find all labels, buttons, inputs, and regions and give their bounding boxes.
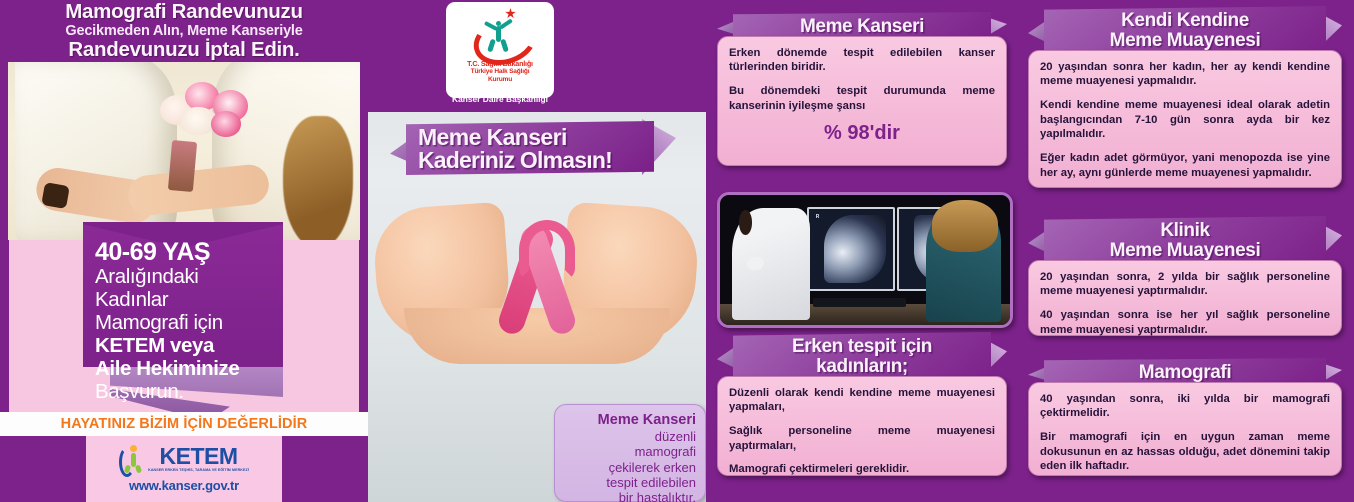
ministry-name-line2: Türkiye Halk Sağlığı	[471, 68, 530, 76]
middle-note-box: Meme Kanseri düzenli mamografi çekilerek…	[554, 404, 706, 502]
card-mamografi: Mamografi 40 yaşından sonra, iki yılda b…	[1028, 358, 1342, 476]
callout-line1: 40-69 YAŞ	[95, 238, 277, 266]
note-line4: tespit edilebilen	[564, 475, 696, 490]
card-2-paragraph-1: 20 yaşından sonra her kadın, her ay kend…	[1040, 60, 1330, 89]
left-headline-block: Mamografi Randevunuzu Gecikmeden Alın, M…	[0, 2, 368, 61]
mammogram-consultation-photo: R L	[717, 192, 1013, 328]
card-2-title-line1: Kendi Kendine	[1054, 11, 1316, 31]
card-2-content: 20 yaşından sonra her kadın, her ay kend…	[1028, 50, 1342, 188]
card-5-content: 40 yaşından sonra, iki yılda bir mamogra…	[1028, 382, 1342, 476]
photo-woman-hair	[283, 116, 353, 242]
left-pink-band-edge-left	[0, 240, 9, 418]
middle-cover-panel: T.C. Sağlık Bakanlığı Türkiye Halk Sağlı…	[368, 0, 706, 502]
card-2-paragraph-3: Eğer kadın adet görmüyor, yani menopozda…	[1040, 151, 1330, 180]
photo-flower-bouquet	[156, 76, 255, 152]
card-1-paragraph-2: Bu dönemdeki tespit durumunda meme kanse…	[729, 84, 995, 113]
card-2-title-line2: Meme Muayenesi	[1054, 31, 1316, 51]
card-2-paragraph-2: Kendi kendine meme muayenesi ideal olara…	[1040, 98, 1330, 142]
mammogram-label-right: R	[816, 214, 820, 220]
ketem-website-url[interactable]: www.kanser.gov.tr	[129, 478, 239, 493]
left-brochure-panel: Mamografi Randevunuzu Gecikmeden Alın, M…	[0, 0, 368, 502]
callout-line3: Kadınlar	[95, 289, 277, 312]
card-5-title-line1: Mamografi	[1054, 363, 1316, 383]
left-pink-band-edge-right	[359, 240, 368, 418]
callout-line5: KETEM veya	[95, 335, 277, 358]
age-range-callout-text: 40-69 YAŞ Aralığındaki Kadınlar Mamograf…	[95, 238, 277, 404]
ministry-of-health-logo-card: T.C. Sağlık Bakanlığı Türkiye Halk Sağlı…	[446, 2, 554, 98]
left-headline-line2: Gecikmeden Alın, Meme Kanseriyle	[0, 23, 368, 40]
photo-doctor-head	[739, 210, 752, 235]
banner-title-line1: Meme Kanseri	[418, 126, 650, 149]
photo-keyboard	[813, 298, 906, 307]
ministry-name-line3: Kurumu	[488, 76, 512, 84]
card-4-paragraph-1: Düzenli olarak kendi kendine meme muayen…	[729, 386, 995, 415]
note-line3: çekilerek erken	[564, 460, 696, 475]
middle-banner: Meme Kanseri Kaderiniz Olmasın!	[392, 117, 680, 179]
card-kendi-kendine-muayene: Kendi Kendine Meme Muayenesi 20 yaşından…	[1028, 6, 1342, 188]
card-meme-kanseri: Meme Kanseri Erken dönemde tespit edileb…	[717, 12, 1007, 166]
left-headline-line3: Randevunuzu İptal Edin.	[0, 39, 368, 61]
right-info-panel: Meme Kanseri Erken dönemde tespit edileb…	[706, 0, 1354, 502]
hands-with-ribbon-photo	[368, 180, 706, 410]
card-4-content: Düzenli olarak kendi kendine meme muayen…	[717, 376, 1007, 476]
callout-line4: Mamografi için	[95, 312, 277, 335]
ketem-subtitle: KANSER ERKEN TEŞHİS, TARAMA VE EĞİTİM ME…	[148, 468, 249, 472]
ketem-logo-block: KETEM KANSER ERKEN TEŞHİS, TARAMA VE EĞİ…	[86, 436, 282, 502]
card-3-paragraph-2: 40 yaşından sonra ise her yıl sağlık per…	[1040, 308, 1330, 337]
card-1-content: Erken dönemde tespit edilebilen kanser t…	[717, 36, 1007, 166]
photo-doctor-arm	[746, 256, 766, 273]
card-3-title-line1: Klinik	[1054, 221, 1316, 241]
card-erken-tespit: Erken tespit için kadınların; Düzenli ol…	[717, 332, 1007, 476]
card-4-paragraph-3: Mamografi çektirmeleri gereklidir.	[729, 462, 995, 477]
card-1-title-line1: Meme Kanseri	[743, 17, 981, 37]
card-3-title-line2: Meme Muayenesi	[1054, 241, 1316, 261]
left-headline-line1: Mamografi Randevunuzu	[0, 2, 368, 23]
note-line5: bir hastalıktır.	[564, 490, 696, 502]
callout-line6: Aile Hekiminize	[95, 358, 277, 381]
ketem-logo-row: KETEM KANSER ERKEN TEŞHİS, TARAMA VE EĞİ…	[119, 445, 249, 473]
card-5-paragraph-2: Bir mamografi için en uygun zaman meme d…	[1040, 430, 1330, 474]
pink-ribbon-icon	[497, 224, 577, 342]
ketem-wordmark: KETEM	[160, 446, 238, 468]
couple-photo	[8, 62, 360, 242]
note-line1: düzenli	[564, 429, 696, 444]
card-klinik-muayene: Klinik Meme Muayenesi 20 yaşından sonra,…	[1028, 216, 1342, 336]
callout-line2: Aralığındaki	[95, 266, 277, 289]
photo-monitor-right-breast: R	[807, 207, 895, 292]
left-slogan-bar: HAYATINIZ BİZİM İÇİN DEĞERLİDİR	[0, 412, 368, 436]
banner-title-line2: Kaderiniz Olmasın!	[418, 149, 650, 172]
ketem-figure-icon	[119, 445, 145, 473]
card-5-paragraph-1: 40 yaşından sonra, iki yılda bir mamogra…	[1040, 392, 1330, 421]
card-4-title-line1: Erken tespit için	[743, 337, 981, 357]
card-1-highlight: % 98'dir	[729, 122, 995, 145]
ribbon-loop	[519, 220, 575, 280]
card-3-paragraph-1: 20 yaşından sonra, 2 yılda bir sağlık pe…	[1040, 270, 1330, 299]
card-1-paragraph-1: Erken dönemde tespit edilebilen kanser t…	[729, 46, 995, 75]
note-line2: mamografi	[564, 444, 696, 459]
infographic-canvas: Mamografi Randevunuzu Gecikmeden Alın, M…	[0, 0, 1354, 502]
note-heading: Meme Kanseri	[564, 413, 696, 429]
photo-patient-hair	[932, 200, 999, 252]
callout-line7: Başvurun.	[95, 381, 277, 404]
card-4-title-line2: kadınların;	[743, 357, 981, 377]
photo-mammogram-image-right	[824, 215, 886, 283]
ministry-emblem-icon	[469, 8, 531, 58]
ministry-department-label: Kanser Daire Başkanlığı	[368, 94, 632, 104]
card-3-content: 20 yaşından sonra, 2 yılda bir sağlık pe…	[1028, 260, 1342, 336]
left-slogan-text: HAYATINIZ BİZİM İÇİN DEĞERLİDİR	[61, 416, 308, 432]
photo-doctor	[732, 208, 810, 320]
banner-title-block: Meme Kanseri Kaderiniz Olmasın!	[418, 126, 650, 172]
card-4-paragraph-2: Sağlık personeline meme muayenesi yaptır…	[729, 424, 995, 453]
